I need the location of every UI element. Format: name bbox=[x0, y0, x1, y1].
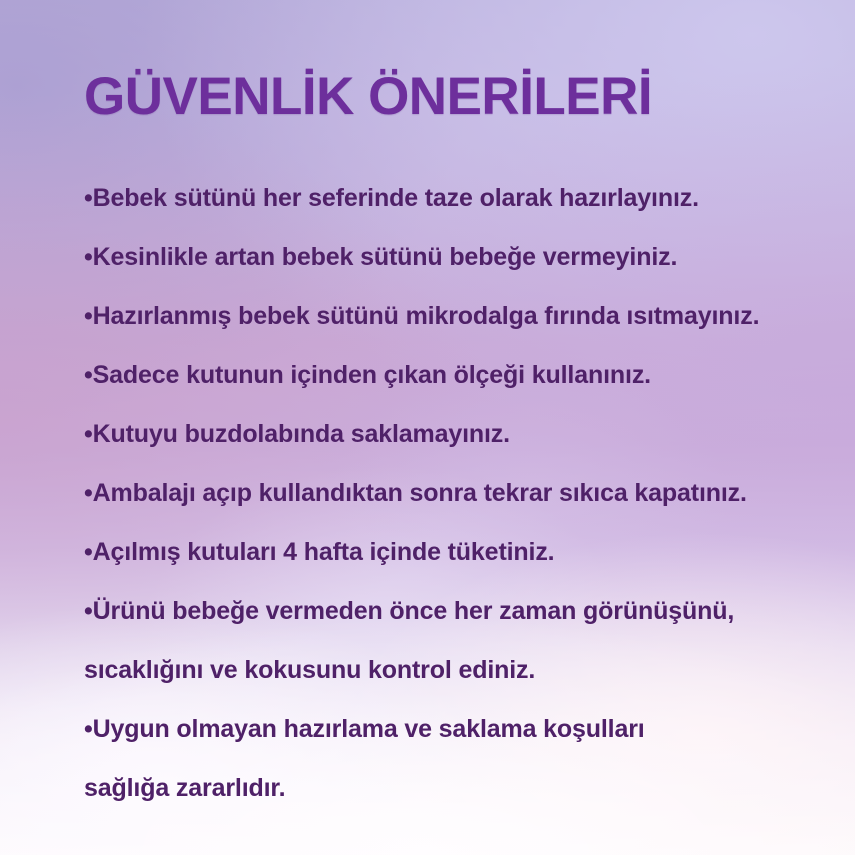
safety-tip-text: Uygun olmayan hazırlama ve saklama koşul… bbox=[93, 715, 645, 743]
bullet-icon: • bbox=[84, 184, 93, 212]
bullet-icon: • bbox=[84, 302, 93, 330]
safety-tip-text: Açılmış kutuları 4 hafta içinde tüketini… bbox=[93, 538, 555, 566]
safety-tip-text: Kesinlikle artan bebek sütünü bebeğe ver… bbox=[93, 243, 678, 271]
safety-tip-text: Ürünü bebeğe vermeden önce her zaman gör… bbox=[93, 597, 735, 625]
bullet-icon: • bbox=[84, 361, 93, 389]
safety-tip-text: sağlığa zararlıdır. bbox=[84, 774, 285, 802]
safety-tip-continuation: sıcaklığını ve kokusunu kontrol ediniz. bbox=[84, 650, 844, 709]
bullet-icon: • bbox=[84, 243, 93, 271]
bullet-icon: • bbox=[84, 715, 93, 743]
safety-tip-item: •Bebek sütünü her seferinde taze olarak … bbox=[84, 178, 844, 237]
bullet-icon: • bbox=[84, 479, 93, 507]
bullet-icon: • bbox=[84, 597, 93, 625]
bullet-icon: • bbox=[84, 420, 93, 448]
safety-tip-text: Sadece kutunun içinden çıkan ölçeği kull… bbox=[93, 361, 651, 389]
page-title: GÜVENLİK ÖNERİLERİ bbox=[84, 66, 652, 128]
safety-recommendations-poster: GÜVENLİK ÖNERİLERİ •Bebek sütünü her sef… bbox=[0, 0, 855, 855]
safety-tip-item: •Kesinlikle artan bebek sütünü bebeğe ve… bbox=[84, 237, 844, 296]
safety-tip-item: •Ambalajı açıp kullandıktan sonra tekrar… bbox=[84, 473, 844, 532]
safety-tip-continuation: sağlığa zararlıdır. bbox=[84, 768, 844, 827]
safety-tip-text: Kutuyu buzdolabında saklamayınız. bbox=[93, 420, 510, 448]
safety-tip-item: •Kutuyu buzdolabında saklamayınız. bbox=[84, 414, 844, 473]
safety-tip-item: •Hazırlanmış bebek sütünü mikrodalga fır… bbox=[84, 296, 844, 355]
safety-tip-text: Ambalajı açıp kullandıktan sonra tekrar … bbox=[93, 479, 747, 507]
bullet-icon: • bbox=[84, 538, 93, 566]
safety-tip-text: sıcaklığını ve kokusunu kontrol ediniz. bbox=[84, 656, 535, 684]
safety-tip-item: •Açılmış kutuları 4 hafta içinde tüketin… bbox=[84, 532, 844, 591]
safety-tip-item: •Ürünü bebeğe vermeden önce her zaman gö… bbox=[84, 591, 844, 650]
safety-tips-list: •Bebek sütünü her seferinde taze olarak … bbox=[84, 178, 844, 827]
safety-tip-item: •Uygun olmayan hazırlama ve saklama koşu… bbox=[84, 709, 844, 768]
safety-tip-item: •Sadece kutunun içinden çıkan ölçeği kul… bbox=[84, 355, 844, 414]
safety-tip-text: Bebek sütünü her seferinde taze olarak h… bbox=[93, 184, 699, 212]
safety-tip-text: Hazırlanmış bebek sütünü mikrodalga fırı… bbox=[93, 302, 760, 330]
